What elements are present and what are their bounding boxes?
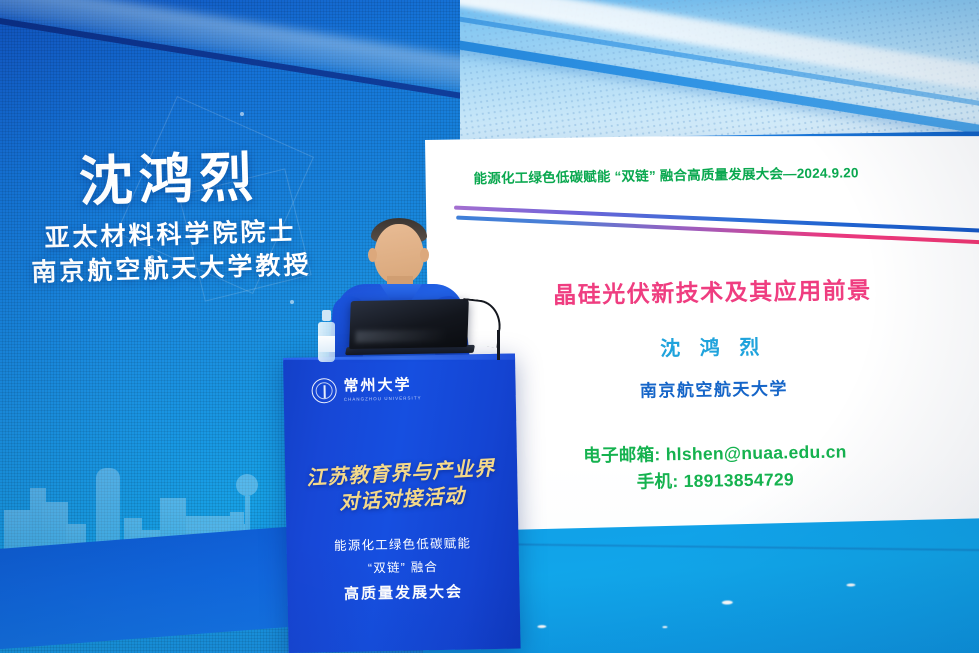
university-seal-icon — [311, 377, 336, 402]
presenter-head — [374, 224, 424, 284]
laptop-screen-lid — [349, 299, 469, 349]
podium-lectern: 常州大学 CHANGZHOU UNIVERSITY 江苏教育界与产业界 对话对接… — [283, 354, 521, 653]
presenter-ear-left — [368, 248, 377, 262]
skyline-tv-tower-sphere — [236, 474, 258, 496]
podium-subtitle-block: 能源化工绿色低碳赋能 “双链” 融合 高质量发展大会 — [286, 532, 519, 610]
podium-logo-text: 常州大学 CHANGZHOU UNIVERSITY — [343, 377, 421, 401]
presenter-ear-right — [420, 248, 429, 262]
stage-light-glint — [846, 583, 855, 586]
stage-light-glint — [662, 626, 667, 628]
bottle-label — [318, 336, 335, 352]
laptop-computer — [350, 300, 470, 356]
led-wall-top-haze — [0, 0, 460, 107]
podium-university-logo: 常州大学 CHANGZHOU UNIVERSITY — [311, 372, 492, 405]
led-speaker-name: 沈鸿烈 — [0, 145, 350, 213]
led-node-dot — [290, 300, 294, 304]
led-node-dot — [240, 112, 244, 116]
microphone-stem — [497, 330, 500, 360]
podium-logo-chinese: 常州大学 — [343, 377, 421, 393]
stage-light-glint — [722, 600, 733, 604]
gooseneck-microphone — [455, 300, 515, 362]
water-bottle — [318, 310, 335, 362]
podium-subtitle-emphasis: 高质量发展大会 — [287, 578, 519, 610]
slide-conference-header: 能源化工绿色低碳赋能 “双链” 融合高质量发展大会—2024.9.20 — [473, 159, 973, 187]
bottle-cap — [322, 310, 331, 321]
conference-photo-scene: 沈鸿烈 亚太材料科学院院士 南京航空航天大学教授 能源化工绿色低碳赋能 “双链”… — [0, 0, 979, 653]
podium-logo-english: CHANGZHOU UNIVERSITY — [344, 395, 422, 401]
laptop-screen-reflection — [355, 329, 445, 343]
stage-light-glint — [537, 625, 546, 628]
podium-calligraphy-title: 江苏教育界与产业界 对话对接活动 — [284, 454, 519, 519]
led-speaker-panel: 沈鸿烈 亚太材料科学院院士 南京航空航天大学教授 — [0, 145, 352, 290]
